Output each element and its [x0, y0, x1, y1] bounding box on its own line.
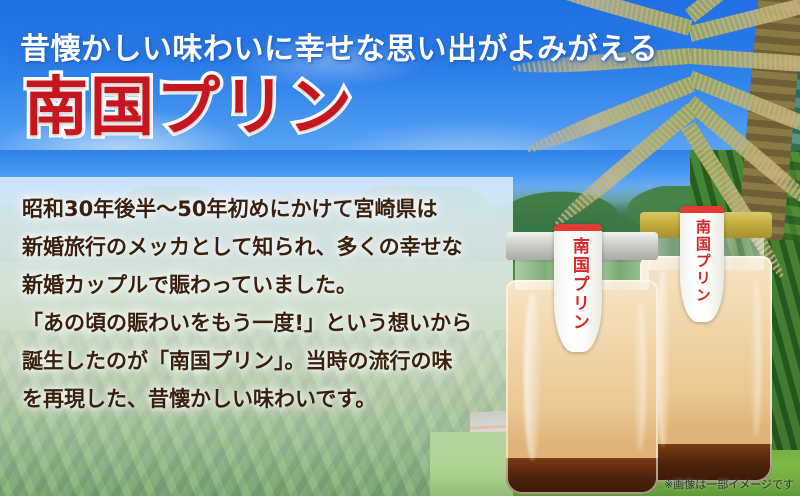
label-text: 南国プリン: [569, 237, 587, 332]
body-line: 新婚旅行のメッカとして知られ、多くの幸せな: [22, 228, 500, 266]
headline-text: 昔懐かしい味わいに幸せな思い出がよみがえる: [20, 24, 780, 68]
label-text: 南国プリン: [694, 219, 710, 304]
promo-banner: 昔懐かしい味わいに幸せな思い出がよみがえる 南国プリン 昭和30年後半〜50年初…: [0, 0, 800, 496]
pudding-jar-front: 南国プリン: [506, 232, 658, 494]
label-red-band: [680, 206, 724, 213]
product-label-tag: 南国プリン: [680, 206, 724, 322]
body-line: 新婚カップルで賑わっていました。: [22, 266, 500, 304]
page-title: 南国プリン: [24, 76, 354, 140]
image-disclaimer: ※画像は一部イメージです: [664, 476, 794, 492]
body-line: 誕生したのが「南国プリン」。当時の流行の味: [22, 342, 500, 380]
label-red-band: [554, 224, 602, 231]
product-label-tag: 南国プリン: [554, 224, 602, 352]
body-line: を再現した、昔懐かしい味わいです。: [22, 380, 500, 418]
pudding-jar-back: 南国プリン: [640, 212, 772, 482]
body-line: 昭和30年後半〜50年初めにかけて宮崎県は: [22, 190, 500, 228]
body-copy: 昭和30年後半〜50年初めにかけて宮崎県は 新婚旅行のメッカとして知られ、多くの…: [22, 190, 500, 418]
body-line: 「あの頃の賑わいをもう一度!」という想いから: [22, 304, 500, 342]
